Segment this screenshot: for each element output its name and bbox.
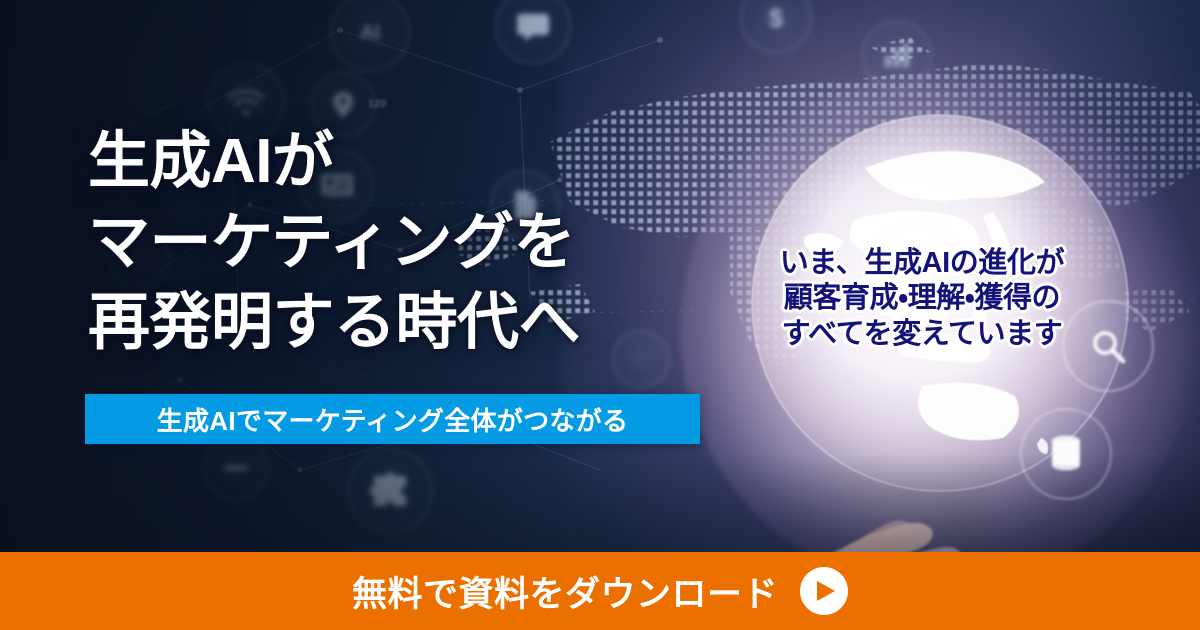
play-icon	[800, 567, 848, 615]
download-cta-button[interactable]: 無料で資料をダウンロード	[0, 552, 1200, 630]
subtitle-badge-label: 生成AIでマーケティング全体がつながる	[157, 401, 629, 438]
page-title: 生成AIが マーケティングを 再発明する時代へ	[88, 122, 728, 364]
promo-banner: AI 120	[0, 0, 1200, 630]
download-cta-label: 無料で資料をダウンロード	[352, 566, 778, 617]
subtitle-badge: 生成AIでマーケティング全体がつながる	[85, 394, 700, 444]
database-icon	[1020, 408, 1112, 500]
globe-overlay-text: いま、生成AIの進化が 顧客育成・理解・獲得の すべてを変えています	[752, 246, 1092, 352]
